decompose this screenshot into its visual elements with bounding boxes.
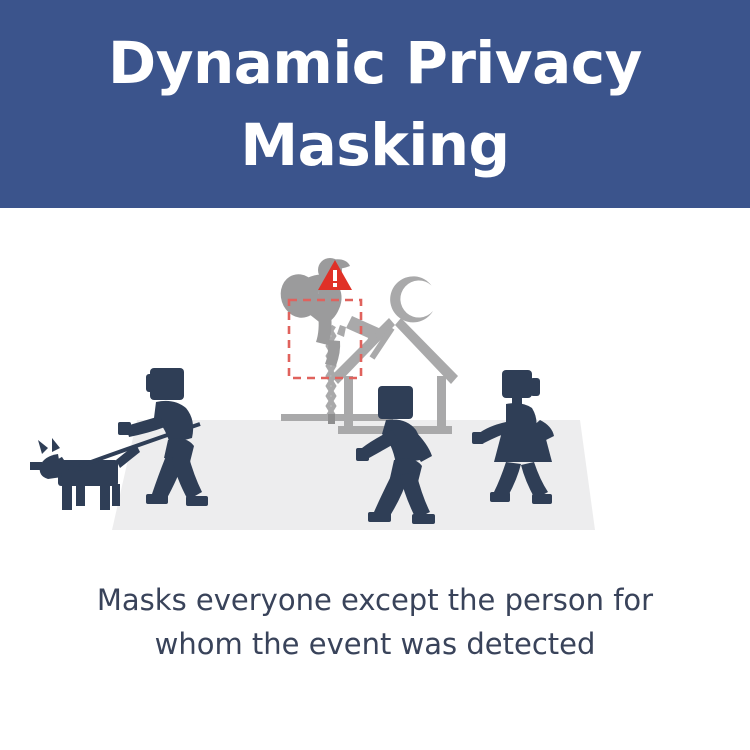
privacy-masking-card: Dynamic Privacy Masking [0,0,750,750]
illustration-svg [0,208,750,568]
moon-icon [390,276,433,322]
illustration [0,208,750,568]
caption-container: Masks everyone except the person for who… [0,578,750,666]
card-header: Dynamic Privacy Masking [0,0,750,208]
caption-text: Masks everyone except the person for who… [65,578,685,666]
page-title: Dynamic Privacy Masking [60,22,690,187]
